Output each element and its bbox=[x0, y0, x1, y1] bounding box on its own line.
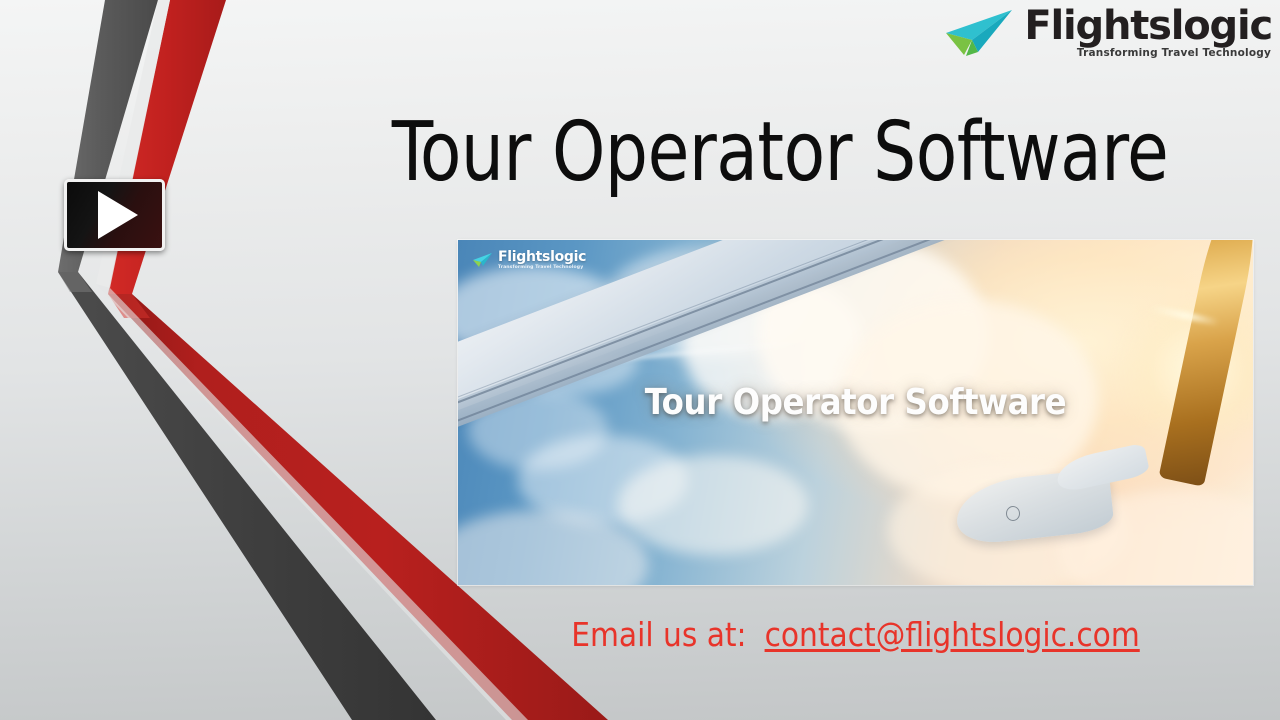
play-video-button[interactable] bbox=[64, 179, 165, 251]
gray-band-bevel bbox=[58, 272, 92, 292]
hero-image-caption: Tour Operator Software bbox=[458, 382, 1253, 423]
play-triangle-icon bbox=[98, 191, 138, 239]
brand-logo: Flightslogic Transforming Travel Technol… bbox=[942, 2, 1272, 64]
red-band-bevel bbox=[108, 294, 150, 318]
fairing-port-icon bbox=[1006, 506, 1020, 521]
presentation-slide: Flightslogic Transforming Travel Technol… bbox=[0, 0, 1280, 720]
hero-logo-tagline: Transforming Travel Technology bbox=[498, 266, 586, 271]
hero-image[interactable]: Flightslogic Transforming Travel Technol… bbox=[458, 240, 1253, 585]
hero-image-logo: Flightslogic Transforming Travel Technol… bbox=[472, 250, 586, 271]
page-title: Tour Operator Software bbox=[338, 112, 1221, 194]
hero-logo-name: Flightslogic bbox=[498, 250, 586, 264]
brand-tagline: Transforming Travel Technology bbox=[1077, 48, 1271, 59]
paper-plane-icon bbox=[472, 252, 494, 268]
brand-name: Flightslogic bbox=[1024, 7, 1272, 45]
contact-line: Email us at:contact@flightslogic.com bbox=[458, 615, 1253, 654]
gray-band-lower bbox=[58, 272, 436, 720]
email-link[interactable]: contact@flightslogic.com bbox=[765, 615, 1140, 654]
cloud bbox=[618, 455, 808, 555]
paper-plane-icon bbox=[942, 7, 1018, 59]
email-label: Email us at: bbox=[571, 615, 746, 654]
